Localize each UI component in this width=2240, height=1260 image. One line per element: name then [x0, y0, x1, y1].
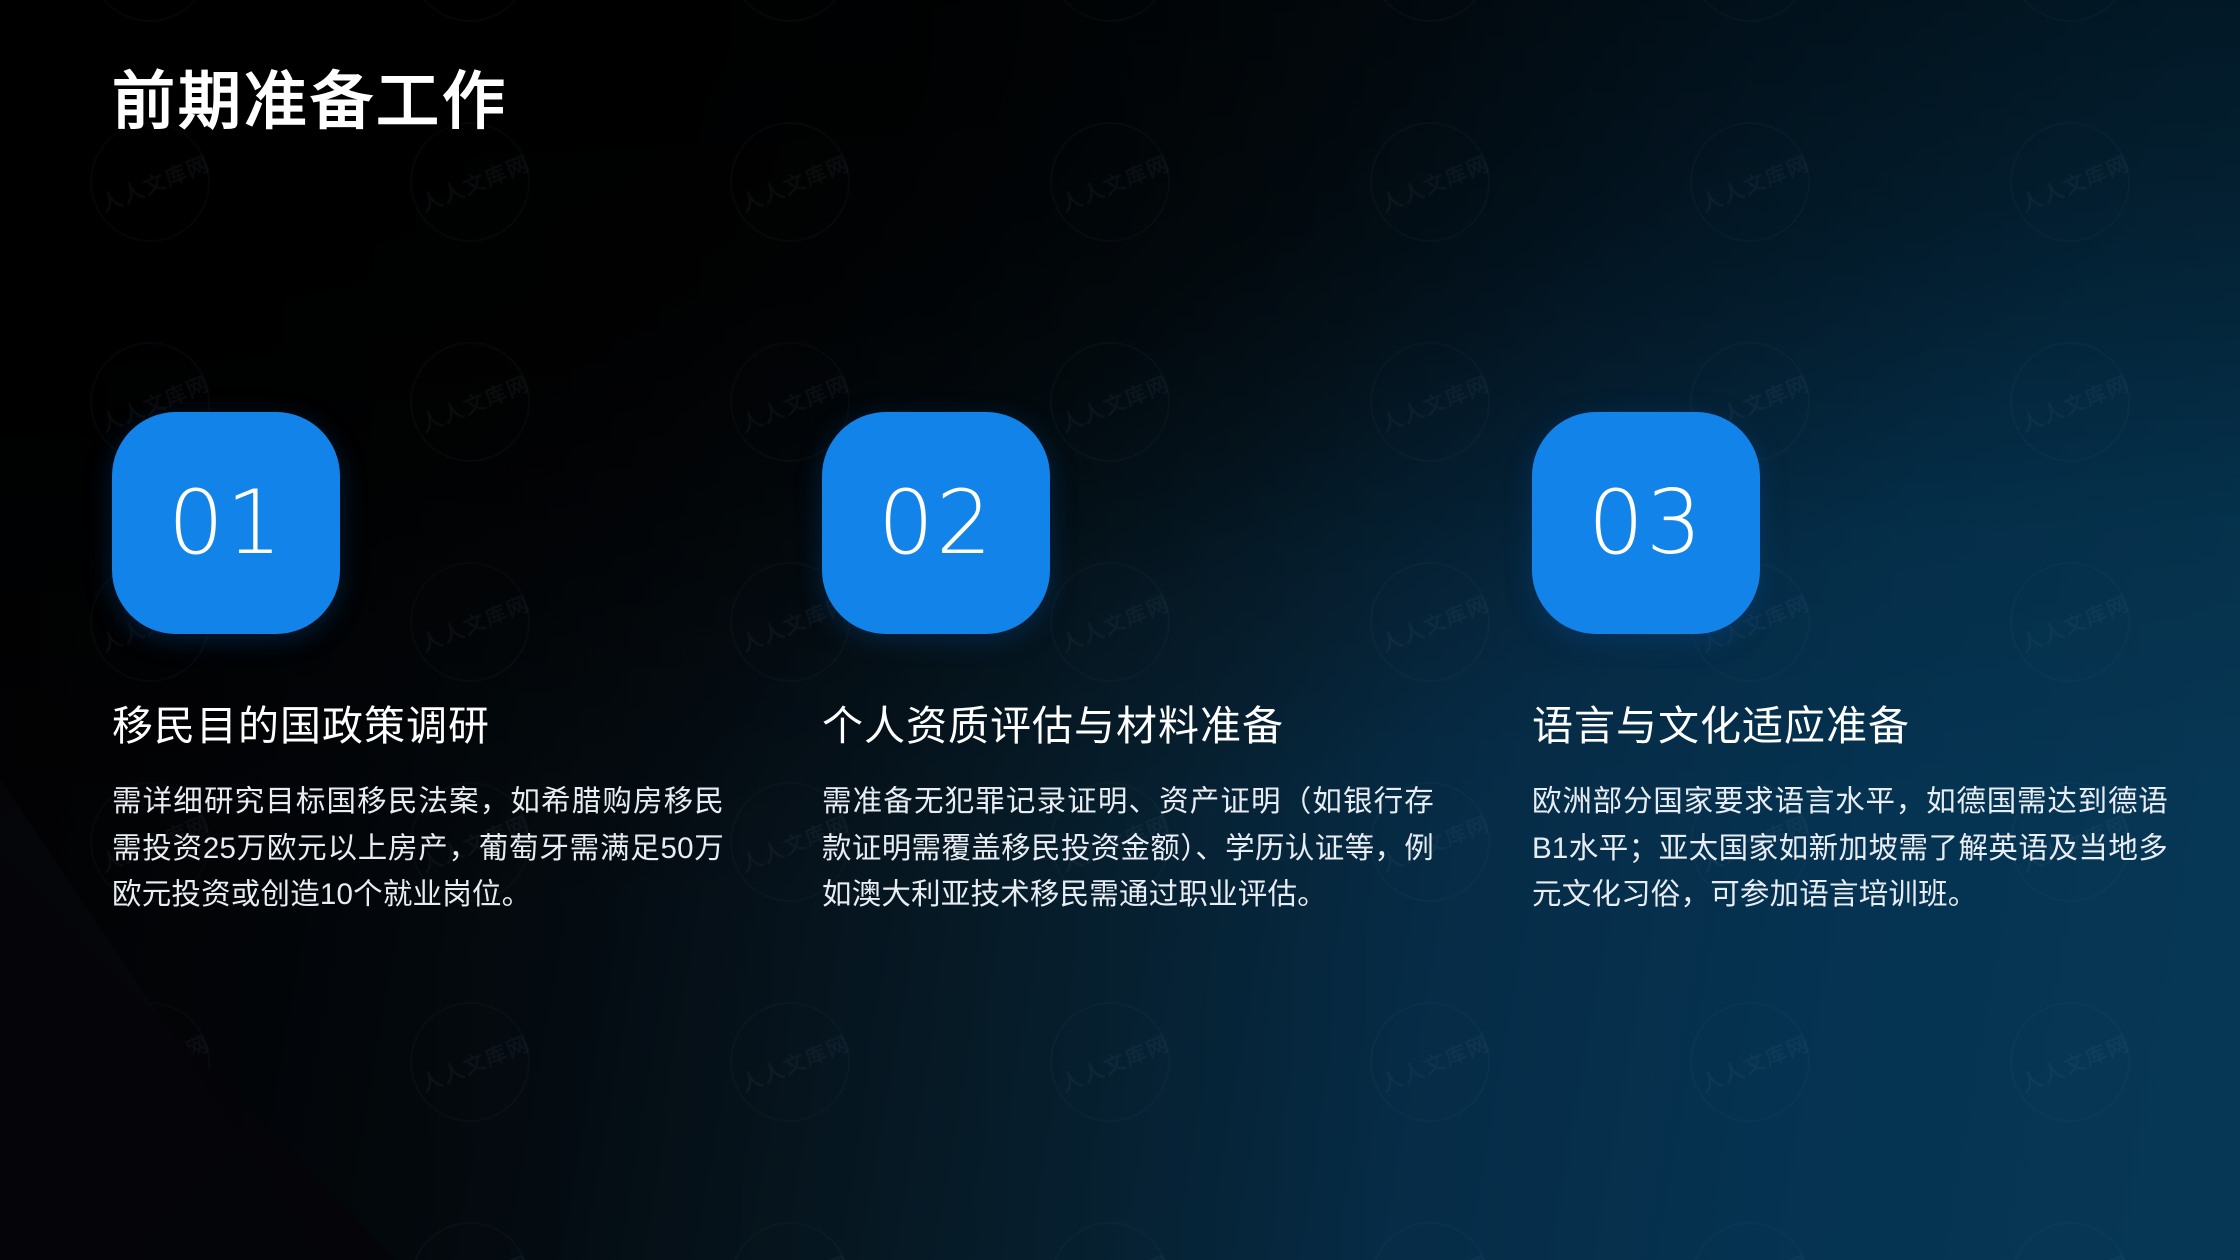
step-number-label: 03 [1588, 479, 1704, 567]
presentation-slide: 人人文库网人人文库网人人文库网人人文库网人人文库网人人文库网人人文库网人人文库网… [0, 0, 2240, 1260]
step-card: 02 个人资质评估与材料准备 需准备无犯罪记录证明、资产证明（如银行存款证明需覆… [822, 412, 1462, 919]
step-card: 01 移民目的国政策调研 需详细研究目标国移民法案，如希腊购房移民需投资25万欧… [112, 412, 752, 919]
step-card: 03 语言与文化适应准备 欧洲部分国家要求语言水平，如德国需达到德语B1水平；亚… [1532, 412, 2172, 919]
step-heading: 移民目的国政策调研 [112, 702, 752, 751]
step-number-badge: 01 [112, 412, 340, 634]
step-number-label: 02 [878, 479, 994, 567]
step-number-badge: 02 [822, 412, 1050, 634]
step-heading: 个人资质评估与材料准备 [822, 702, 1462, 751]
step-number-label: 01 [168, 479, 284, 567]
step-heading: 语言与文化适应准备 [1532, 702, 2172, 751]
step-description: 需详细研究目标国移民法案，如希腊购房移民需投资25万欧元以上房产，葡萄牙需满足5… [112, 779, 724, 919]
step-number-badge: 03 [1532, 412, 1760, 634]
page-title: 前期准备工作 [112, 68, 508, 137]
step-description: 需准备无犯罪记录证明、资产证明（如银行存款证明需覆盖移民投资金额）、学历认证等，… [822, 779, 1434, 919]
step-card-list: 01 移民目的国政策调研 需详细研究目标国移民法案，如希腊购房移民需投资25万欧… [0, 412, 2240, 919]
step-description: 欧洲部分国家要求语言水平，如德国需达到德语B1水平；亚太国家如新加坡需了解英语及… [1532, 779, 2168, 919]
